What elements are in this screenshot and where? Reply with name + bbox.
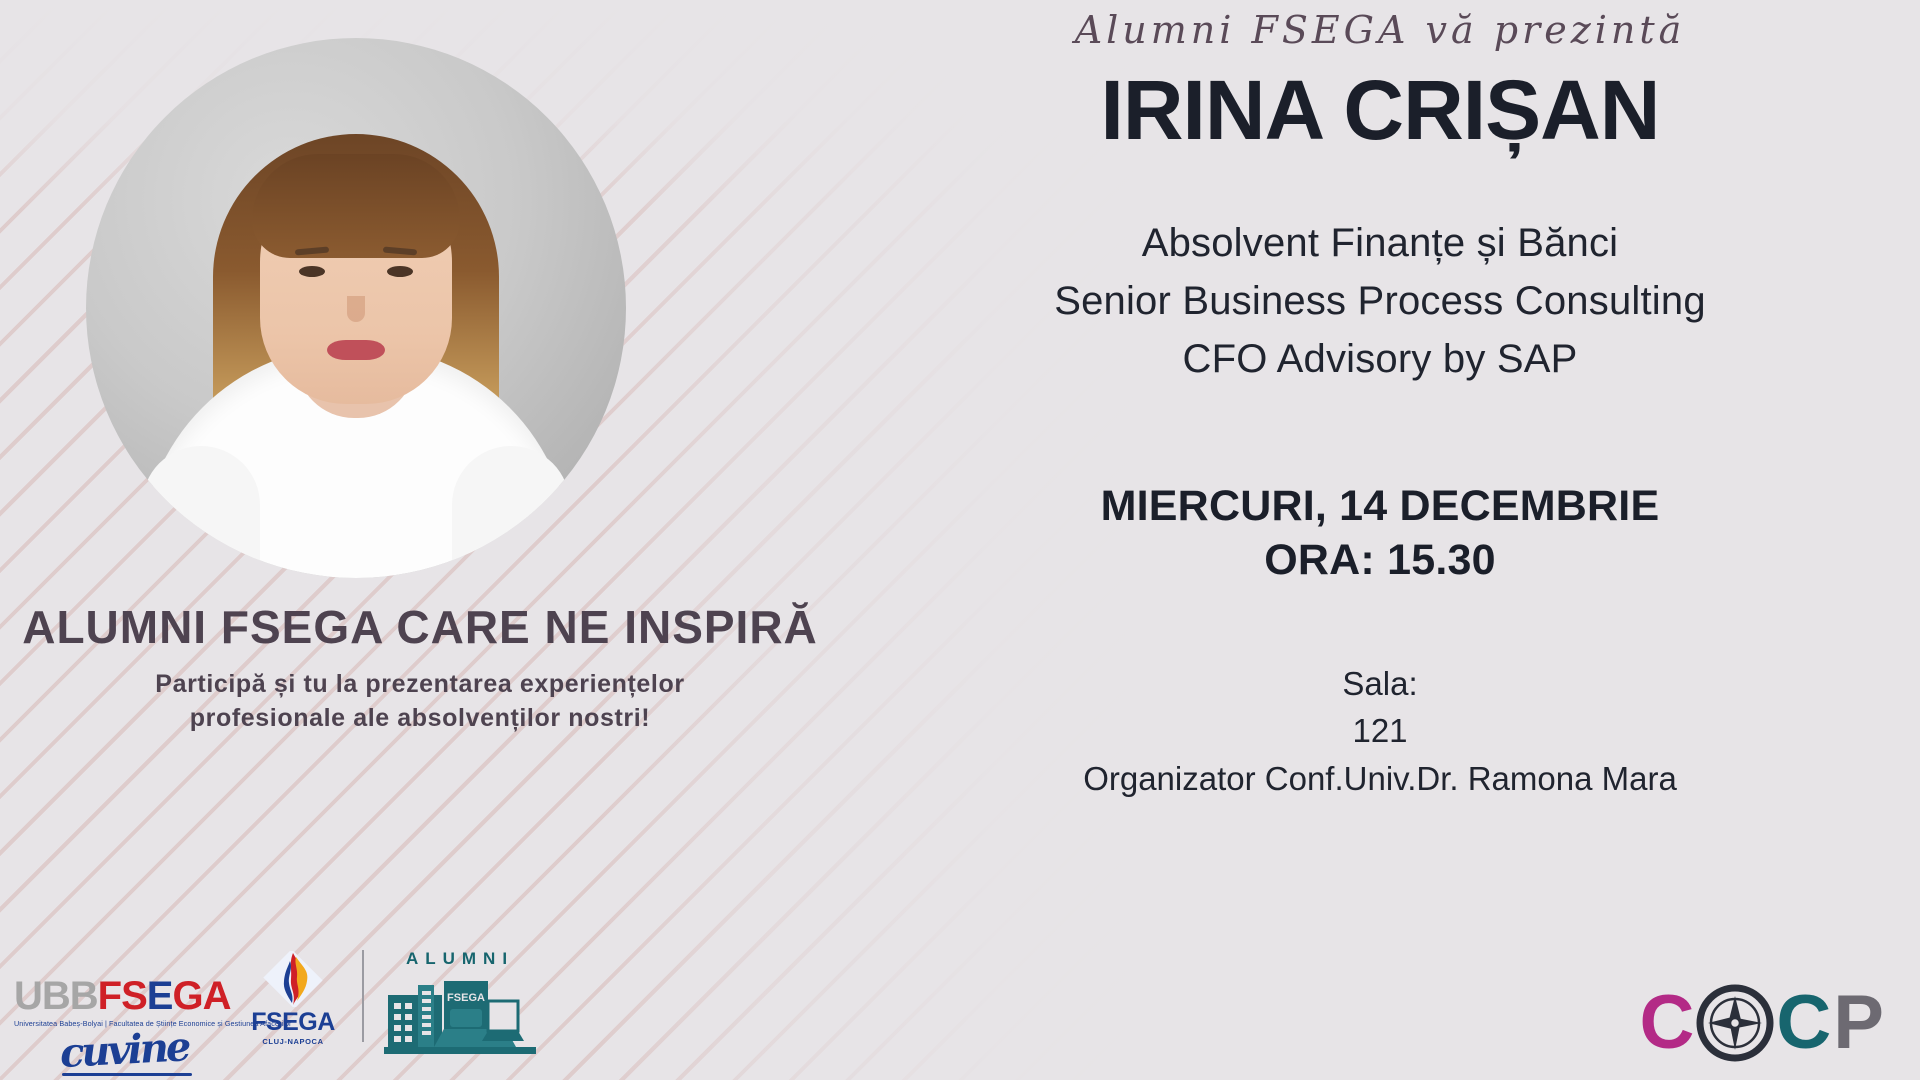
event-time: ORA: 15.30 [840, 534, 1920, 588]
event-poster: ALUMNI FSEGA CARE NE INSPIRĂ Participă ș… [0, 0, 1920, 1080]
ubb-fsega-wordmark: UBBFSEGA [14, 976, 230, 1016]
nose-shape [347, 296, 365, 322]
campaign-subline-line2: profesionale ale absolvenților nostri! [60, 702, 780, 736]
room-number: 121 [840, 707, 1920, 755]
cocp-letter-c2: C [1776, 985, 1831, 1061]
event-organizer: Organizator Conf.Univ.Dr. Ramona Mara [840, 755, 1920, 803]
event-venue-block: Sala: 121 Organizator Conf.Univ.Dr. Ramo… [840, 660, 1920, 804]
fsega-letter-e: E [147, 974, 173, 1018]
alumni-logo: ALUMNI [384, 949, 536, 1076]
role-line-3: CFO Advisory by SAP [840, 330, 1920, 388]
fsega-cluj-subtitle: CLUJ-NAPOCA [240, 1037, 346, 1046]
partner-logo-row: UBBFSEGA Universitatea Babeș-Bolyai | Fa… [14, 949, 536, 1076]
speaker-photo [86, 38, 626, 578]
fsega-letters-ga: GA [172, 974, 230, 1018]
cuvine-signature: cuvine [59, 1021, 231, 1077]
speaker-name: IRINA CRIȘAN [840, 68, 1920, 152]
eye-right-shape [387, 266, 413, 277]
eye-left-shape [299, 266, 325, 277]
campaign-subline: Participă și tu la prezentarea experienț… [60, 668, 780, 736]
cocp-letter-p: P [1833, 985, 1884, 1061]
fringe-shape [252, 154, 460, 258]
role-line-1: Absolvent Finanțe și Bănci [840, 214, 1920, 272]
sleeve-left-shape [142, 446, 260, 578]
left-column: ALUMNI FSEGA CARE NE INSPIRĂ Participă ș… [0, 0, 840, 1080]
fsega-cluj-logo: FSEGA CLUJ-NAPOCA [240, 951, 346, 1076]
ubb-fsega-logo: UBBFSEGA Universitatea Babeș-Bolyai | Fa… [14, 976, 230, 1076]
cocp-logo: C C P [1640, 984, 1884, 1062]
cocp-letter-c1: C [1640, 985, 1695, 1061]
campaign-subline-line1: Participă și tu la prezentarea experienț… [60, 668, 780, 702]
script-header: Alumni FSEGA vă prezintă [840, 8, 1920, 52]
role-line-2: Senior Business Process Consulting [840, 272, 1920, 330]
campaign-headline: ALUMNI FSEGA CARE NE INSPIRĂ [0, 600, 840, 654]
speaker-role-block: Absolvent Finanțe și Bănci Senior Busine… [840, 214, 1920, 388]
compass-rose-icon [1696, 984, 1774, 1062]
logo-divider [362, 950, 364, 1042]
ubb-letters: UBB [14, 974, 98, 1018]
event-datetime-block: MIERCURI, 14 DECEMBRIE ORA: 15.30 [840, 480, 1920, 588]
fsega-letters-fs: FS [98, 974, 147, 1018]
campus-building-icon: FSEGA [384, 971, 536, 1062]
alumni-wordmark: ALUMNI [384, 949, 536, 969]
room-label: Sala: [840, 660, 1920, 708]
alumni-badge-text: FSEGA [447, 992, 485, 1004]
sleeve-right-shape [452, 446, 570, 578]
event-date: MIERCURI, 14 DECEMBRIE [840, 480, 1920, 534]
flame-icon [263, 951, 323, 1007]
mouth-shape [327, 340, 385, 360]
right-column: Alumni FSEGA vă prezintă IRINA CRIȘAN Ab… [840, 0, 1920, 1080]
